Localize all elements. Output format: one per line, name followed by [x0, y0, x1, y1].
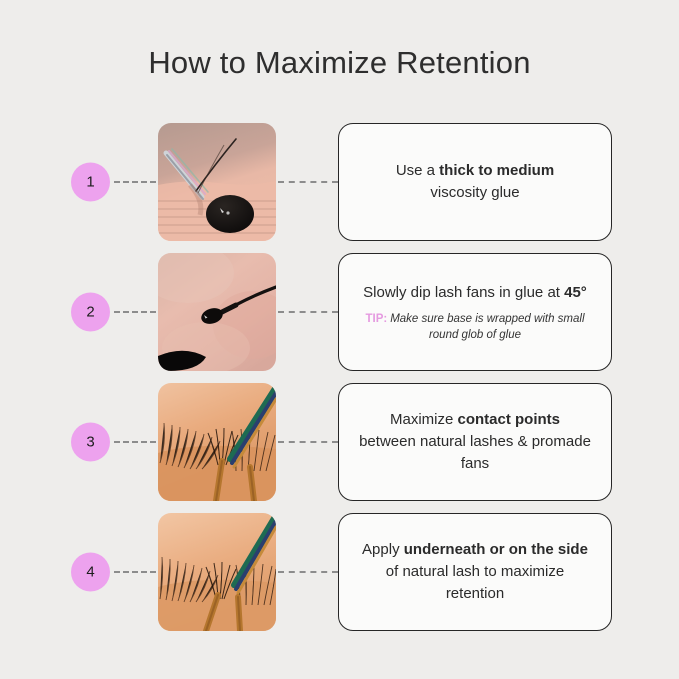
step-text-pre: Slowly dip lash fans in glue at	[363, 284, 564, 301]
step-thumbnail	[158, 253, 276, 371]
step-number-badge: 2	[71, 293, 110, 332]
step-thumbnail	[158, 513, 276, 631]
step-row: 3	[0, 383, 679, 501]
step-text-bold: contact points	[458, 411, 561, 428]
glue-drop-and-tweezers-photo	[158, 123, 276, 241]
steps-list: 1	[0, 123, 679, 643]
step-text-bold: thick to medium	[439, 162, 554, 179]
step-text-card: Slowly dip lash fans in glue at 45° TIP:…	[338, 253, 612, 371]
contact-points-lash-mat-photo	[158, 383, 276, 501]
step-text: Use a thick to medium viscosity glue	[396, 160, 554, 204]
step-number-badge: 3	[71, 423, 110, 462]
page-title: How to Maximize Retention	[0, 44, 679, 82]
step-thumbnail	[158, 123, 276, 241]
step-tip: TIP:Make sure base is wrapped with small…	[355, 311, 595, 343]
step-text-card: Apply underneath or on the side of natur…	[338, 513, 612, 631]
connector-dashed-line-right	[278, 441, 338, 443]
connector-dashed-line-left	[114, 181, 156, 183]
step-text: Slowly dip lash fans in glue at 45°	[363, 282, 587, 304]
tip-label: TIP:	[365, 313, 387, 325]
step-text-pre: Use a	[396, 162, 439, 179]
connector-dashed-line-right	[278, 181, 338, 183]
step-text-line2: viscosity glue	[430, 184, 519, 201]
step-text-card: Maximize contact points between natural …	[338, 383, 612, 501]
step-text: Apply underneath or on the side of natur…	[355, 539, 595, 605]
connector-dashed-line-left	[114, 311, 156, 313]
step-thumbnail	[158, 383, 276, 501]
step-row: 2	[0, 253, 679, 371]
lash-fan-dipped-in-glue-photo	[158, 253, 276, 371]
step-text-card: Use a thick to medium viscosity glue	[338, 123, 612, 241]
connector-dashed-line-left	[114, 571, 156, 573]
tip-text: Make sure base is wrapped with small rou…	[390, 313, 584, 341]
step-row: 1	[0, 123, 679, 241]
underneath-placement-lash-mat-photo	[158, 513, 276, 631]
connector-dashed-line-left	[114, 441, 156, 443]
step-text-post: of natural lash to maximize retention	[386, 563, 564, 602]
step-text-bold: underneath or on the side	[404, 541, 588, 558]
step-text-pre: Maximize	[390, 411, 458, 428]
step-number-badge: 1	[71, 163, 110, 202]
step-text-line2: between natural lashes & promade fans	[359, 433, 591, 472]
connector-dashed-line-right	[278, 571, 338, 573]
step-row: 4	[0, 513, 679, 631]
step-text-bold: 45°	[564, 284, 587, 301]
infographic-page: How to Maximize Retention 1	[0, 0, 679, 679]
connector-dashed-line-right	[278, 311, 338, 313]
step-text-pre: Apply	[362, 541, 404, 558]
step-text: Maximize contact points between natural …	[355, 409, 595, 475]
step-number-badge: 4	[71, 553, 110, 592]
